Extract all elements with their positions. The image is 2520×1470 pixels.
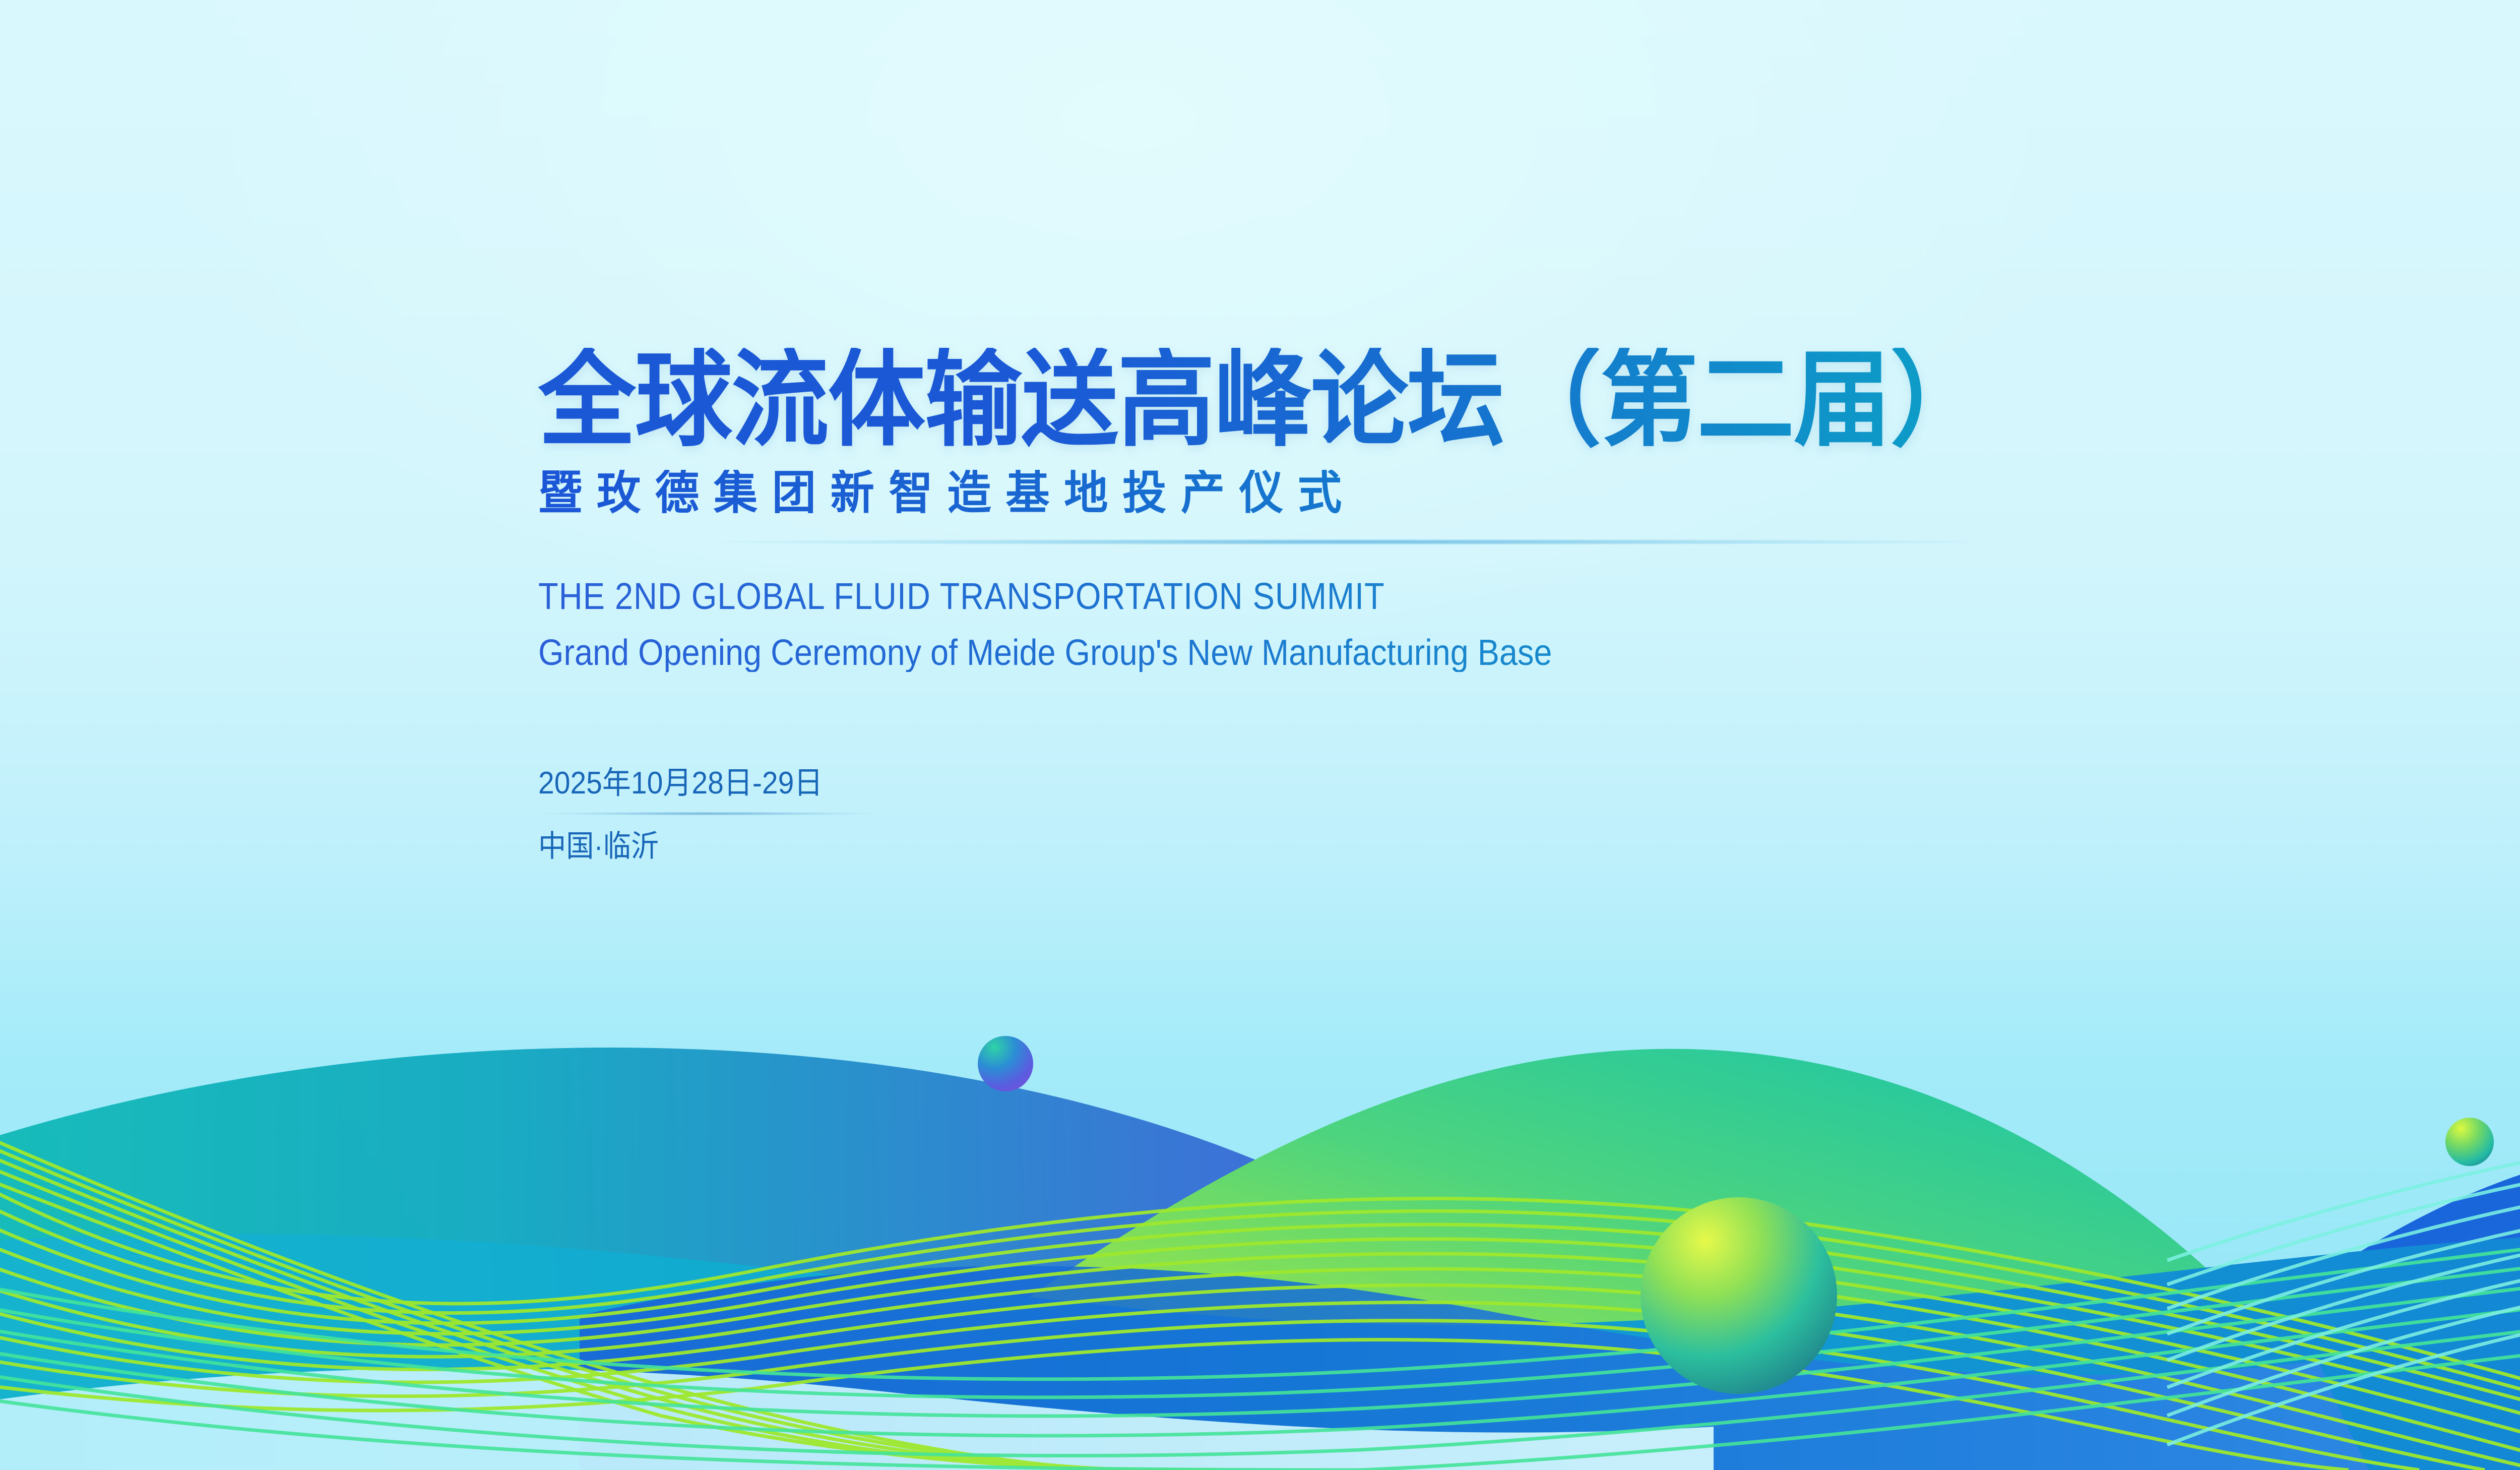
- sphere-small-green: [2445, 1118, 2494, 1166]
- sphere-large-center: [1641, 1197, 1837, 1394]
- poster-text-block: 全球流体输送高峰论坛（第二届） 暨玫德集团新智造基地投产仪式 THE 2ND G…: [538, 348, 2520, 862]
- meta-divider: [538, 812, 911, 815]
- event-date: 2025年10月28日-29日: [538, 768, 2520, 799]
- title-glow-divider: [538, 539, 2171, 544]
- english-subtitle: Grand Opening Ceremony of Meide Group's …: [538, 634, 2520, 672]
- event-poster: 全球流体输送高峰论坛（第二届） 暨玫德集团新智造基地投产仪式 THE 2ND G…: [0, 0, 2520, 1470]
- event-meta: 2025年10月28日-29日 中国·临沂: [538, 768, 2520, 862]
- page-title: 全球流体输送高峰论坛（第二届）: [538, 348, 2520, 453]
- sphere-small-top: [978, 1036, 1033, 1091]
- english-title: THE 2ND GLOBAL FLUID TRANSPORTATION SUMM…: [538, 577, 2520, 616]
- page-subtitle: 暨玫德集团新智造基地投产仪式: [538, 470, 2520, 516]
- event-location: 中国·临沂: [538, 831, 2520, 862]
